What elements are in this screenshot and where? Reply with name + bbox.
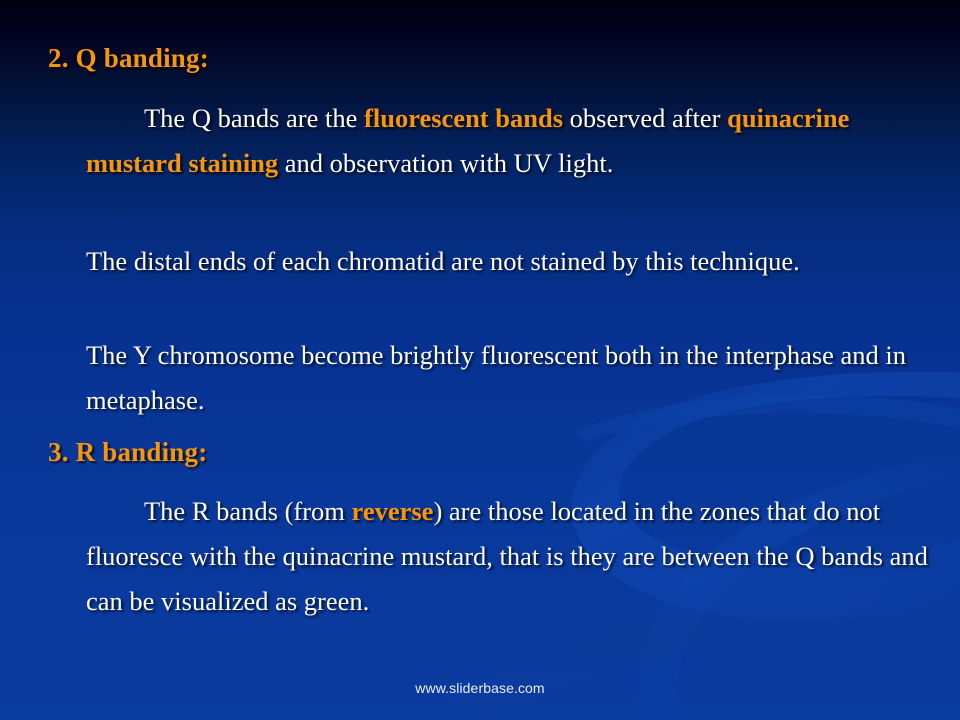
heading-r-banding: 3. R banding: <box>48 437 207 467</box>
paragraph-y-chromosome: The Y chromosome become brightly fluores… <box>86 333 934 423</box>
q-intro-text-3: and observation with UV light. <box>278 148 613 178</box>
r-intro-text-1: The R bands (from <box>144 496 352 526</box>
paragraph-q-intro: The Q bands are the fluorescent bands ob… <box>86 96 934 186</box>
presentation-slide: 2. Q banding: The Q bands are the fluore… <box>0 0 960 720</box>
q-intro-text-1: The Q bands are the <box>144 103 364 133</box>
footer-source-url: www.sliderbase.com <box>0 680 960 696</box>
slide-content: 2. Q banding: The Q bands are the fluore… <box>0 0 960 720</box>
r-intro-highlight-reverse: reverse <box>352 496 434 526</box>
heading-q-banding: 2. Q banding: <box>48 43 209 73</box>
q-intro-highlight-fluorescent-bands: fluorescent bands <box>364 103 563 133</box>
paragraph-distal-ends: The distal ends of each chromatid are no… <box>86 239 934 284</box>
paragraph-r-intro: The R bands (from reverse) are those loc… <box>86 489 934 624</box>
q-intro-text-2: observed after <box>563 103 727 133</box>
